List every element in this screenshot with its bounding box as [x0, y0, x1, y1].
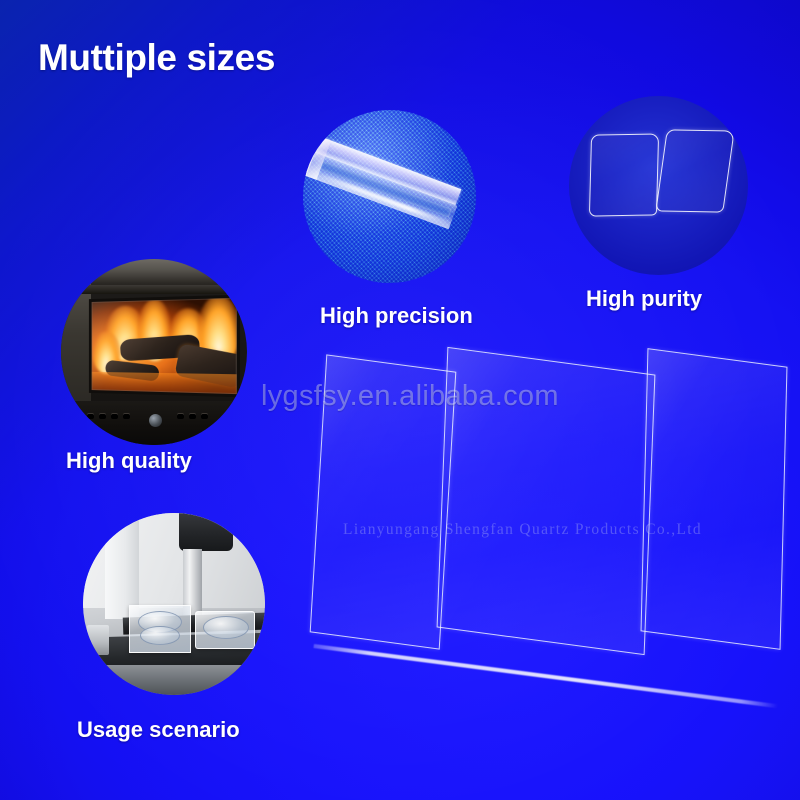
quartz-sample-block: [195, 611, 255, 649]
quartz-plate-right: [655, 129, 734, 212]
stove-vent: [177, 414, 184, 419]
page-title: Muttiple sizes: [38, 37, 275, 79]
watermark-url: lygsfsy.en.alibaba.com: [261, 380, 559, 413]
feature-label-quality: High quality: [66, 448, 192, 474]
plate-glint: [642, 349, 787, 648]
stove-glass-window: [89, 295, 240, 398]
stove-vent: [189, 414, 196, 419]
quartz-plate-left: [589, 133, 659, 216]
stove-vent: [87, 414, 94, 419]
stove-vent: [111, 414, 118, 419]
product-banner: Muttiple sizes High precision High purit…: [0, 0, 800, 800]
lens-ring: [140, 626, 180, 645]
stove-base: [61, 401, 247, 445]
machine-clamp: [87, 625, 109, 655]
feature-image-purity: [569, 96, 748, 275]
watermark-company: Lianyungang Shengfan Quartz Products Co.…: [343, 521, 702, 539]
quartz-sample-block: [129, 605, 191, 653]
stove-vent: [201, 414, 208, 419]
feature-image-precision: [303, 110, 476, 283]
stove-vent: [123, 414, 130, 419]
feature-image-usage: [83, 513, 265, 695]
feature-label-precision: High precision: [320, 303, 473, 329]
machine-deck: [83, 665, 265, 695]
stove-control-knob: [149, 414, 162, 427]
quartz-plate-3: [641, 348, 788, 650]
machine-head: [179, 513, 233, 551]
feature-image-quality: [61, 259, 247, 445]
lens-ring: [203, 616, 249, 639]
window-frame: [89, 295, 240, 398]
feature-label-usage: Usage scenario: [77, 717, 240, 743]
stove-vent: [99, 414, 106, 419]
feature-label-purity: High purity: [586, 286, 702, 312]
stove-top-trim: [61, 285, 247, 294]
machine-column: [105, 513, 139, 619]
